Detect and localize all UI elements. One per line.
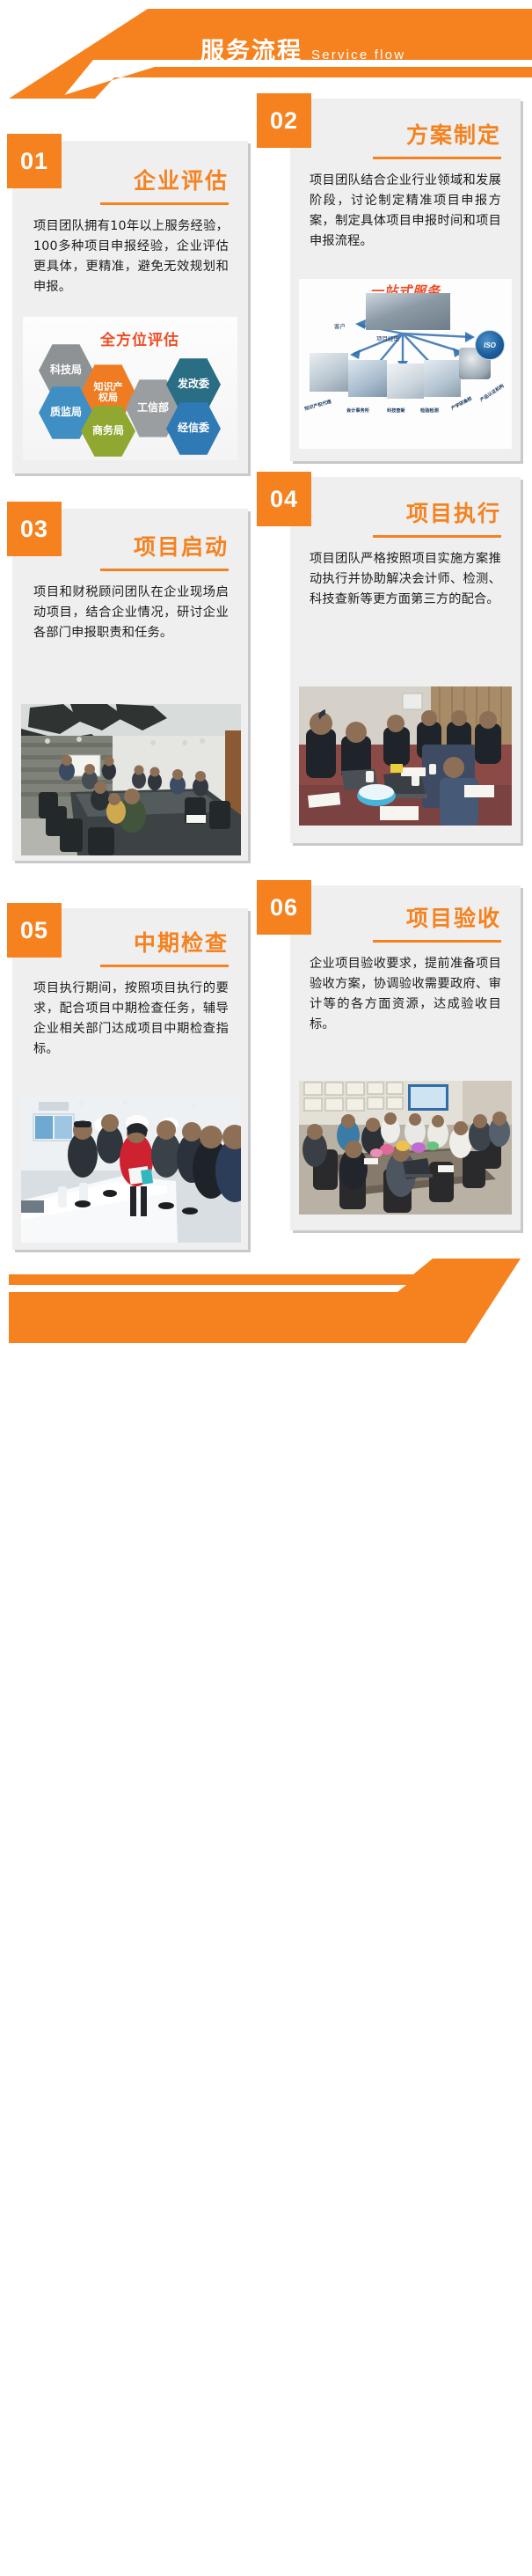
photo-04-render [299,686,512,826]
site-visit-photo-05 [21,1095,241,1243]
oss-label-tech-search: 科技查新 [387,407,405,414]
oss-node-manager: 项目经理 [376,334,399,342]
card-06[interactable]: 项目验收 企业项目验收要求，提前准备项目验收方案，协调验收需要政府、审计等的各方… [290,885,521,1230]
card-05-badge: 05 [7,903,62,958]
card-02-body: 项目团队结合企业行业领域和发展阶段，讨论制定精准项目申报方案，制定具体项目申报时… [310,171,501,252]
hotline: 全国统一热线： 400-150-1560 [48,2550,293,2576]
hotline-label: 全国统一热线： [48,2556,147,2574]
card-04-title-rule [373,535,501,538]
card-02[interactable]: 方案制定 项目团队结合企业行业领域和发展阶段，讨论制定精准项目申报方案，制定具体… [290,99,521,461]
photo-03-render [21,704,241,855]
card-01-badge: 01 [7,134,62,188]
card-01-hexagon-infographic: 全方位评估 科技局 知识产权局 质监局 商务局 工信部 发改委 经信委 [23,317,237,460]
card-06-badge: 06 [257,880,311,935]
oss-thumb-ip [310,353,348,392]
card-06-body: 企业项目验收要求，提前准备项目验收方案，协调验收需要政府、审计等的各方面资源，达… [310,954,501,1035]
card-05-title-rule [100,965,229,967]
card-04[interactable]: 项目执行 项目团队严格按照项目实施方案推动执行并协助解决会计师、检测、科技查新等… [290,477,521,843]
card-02-title-rule [373,157,501,159]
card-02-badge: 02 [257,93,311,148]
page-header: 服务流程 Service flow [0,0,532,99]
oss-label-inspection: 检验检测 [420,407,439,414]
oss-certification-seal: ISO [475,330,505,360]
hotline-number: 400-150-1560 [150,2550,293,2576]
card-03-badge: 03 [7,502,62,556]
photo-05-render [21,1095,241,1243]
photo-06-render [299,1081,512,1215]
meeting-room-photo-03 [21,704,241,855]
card-03-body: 项目和财税顾问团队在企业现场启动项目，结合企业情况，研讨企业各部门申报职责和任务… [33,583,229,643]
card-03[interactable]: 项目启动 项目和财税顾问团队在企业现场启动项目，结合企业情况，研讨企业各部门申报… [12,509,248,861]
oss-thumb-research [387,363,424,399]
footer-banner-shape [0,1250,532,1354]
card-03-title: 项目启动 [100,530,229,561]
oss-thumb-accounting [348,360,387,397]
conference-photo-06 [299,1081,512,1215]
card-01[interactable]: 企业评估 项目团队拥有10年以上服务经验，100多种项目申报经验，企业评估更具体… [12,141,248,473]
oss-meeting-thumb [366,293,450,330]
page-footer: 全国统一热线： 400-150-1560 [0,1250,532,1354]
card-05-body: 项目执行期间，按照项目执行的要求，配合项目中期检查任务，辅导企业相关部门达成项目… [33,979,229,1060]
page-title-cn: 服务流程 [200,32,302,66]
oss-label-accounting-firm: 会计事务所 [346,407,369,414]
card-01-title: 企业评估 [100,164,229,195]
page-title-en: Service flow [311,48,405,62]
hex-infographic-title: 全方位评估 [100,327,179,349]
laptop-meeting-photo-04 [299,686,512,826]
card-06-title-rule [373,940,501,943]
page-title: 服务流程 Service flow [200,32,405,66]
card-01-body: 项目团队拥有10年以上服务经验，100多种项目申报经验，企业评估更具体，更精准，… [33,217,229,297]
card-04-badge: 04 [257,472,311,526]
card-05-title: 中期检查 [100,926,229,958]
card-02-title: 方案制定 [373,118,501,150]
card-04-title: 项目执行 [373,496,501,528]
card-01-title-rule [100,202,229,205]
card-03-title-rule [100,569,229,571]
card-04-body: 项目团队严格按照项目实施方案推动执行并协助解决会计师、检测、科技查新等更方面第三… [310,549,501,610]
card-06-title: 项目验收 [373,901,501,933]
oss-node-customer: 客户 [334,321,346,330]
card-05[interactable]: 中期检查 项目执行期间，按照项目执行的要求，配合项目中期检查任务，辅导企业相关部… [12,908,248,1250]
oss-thumb-testing [424,360,461,397]
card-02-one-stop-service-diagram: 一站式服务 客户 项目经理 ISO [299,279,512,449]
